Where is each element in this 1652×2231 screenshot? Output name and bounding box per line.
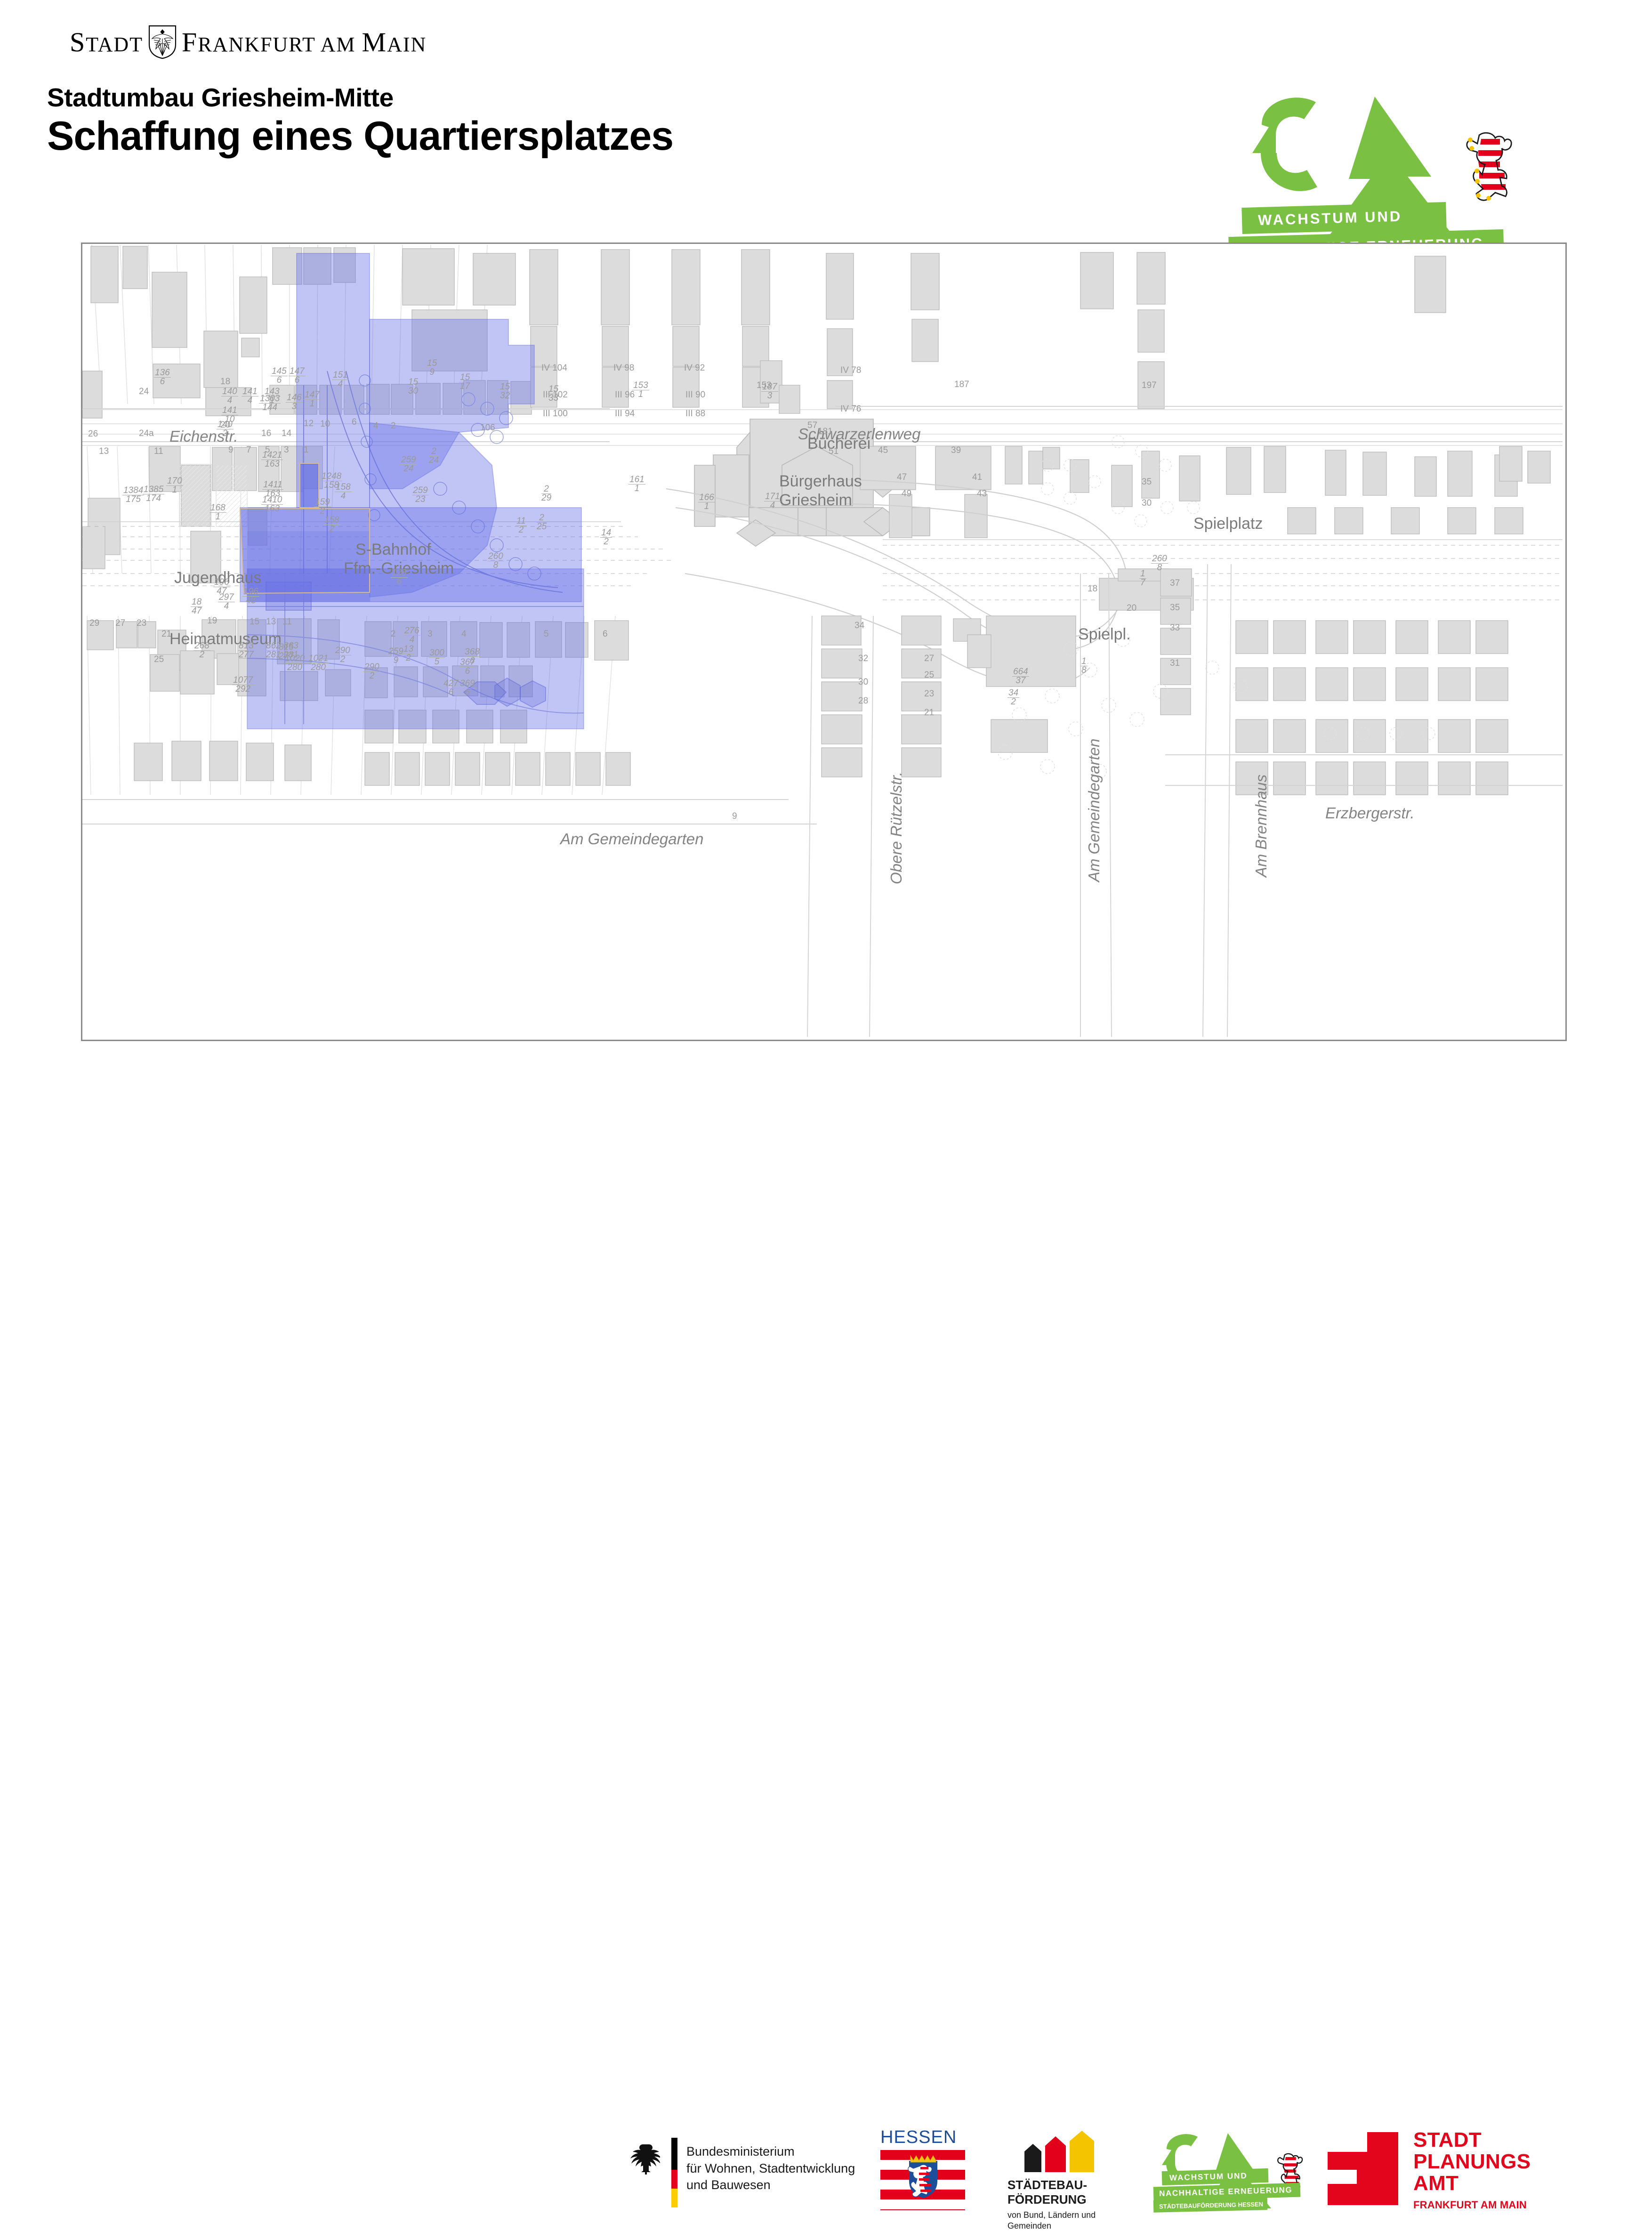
- parcel-number-label: 225: [537, 514, 547, 531]
- parcel-number-label: 1847: [191, 598, 202, 615]
- parcel-number-label: 1410163: [261, 496, 283, 513]
- parcel-number-label: 2608: [487, 552, 504, 570]
- house-number-label: 43: [977, 489, 987, 499]
- house-number-label: 4: [373, 421, 379, 431]
- street-label: Am Brennhaus: [1252, 775, 1270, 877]
- house-number-label: 6: [352, 417, 357, 428]
- parcel-number-label: 1873: [761, 383, 778, 400]
- frankfurt-eagle-crest-icon: [148, 24, 177, 59]
- house-number-label: 34: [854, 621, 864, 631]
- parcel-number-label: 229: [541, 485, 551, 502]
- parcel-number-label: 1611: [629, 476, 645, 493]
- parcel-number-label: 4276: [443, 679, 459, 697]
- house-number-label: 32: [858, 654, 868, 664]
- house-number-label: 13: [266, 617, 276, 627]
- house-number-label: 35: [1170, 603, 1180, 613]
- parcel-number-label: 1714: [764, 493, 781, 510]
- parcel-number-label: 3696: [459, 679, 476, 697]
- house-number-label: 19: [207, 616, 217, 626]
- stadtplanungsamt-mark-icon: [1328, 2132, 1398, 2205]
- parcel-number-label: 1471: [304, 391, 321, 408]
- germany-flag-bar-icon: [671, 2138, 677, 2207]
- parcel-number-label: 1476: [289, 367, 306, 385]
- cadastral-map[interactable]: Eichenstr.SchwarzerlenwegErzbergerstr.Am…: [81, 242, 1567, 1041]
- house-number-label: 31: [1170, 658, 1180, 669]
- parcel-number-label: 1514: [332, 371, 349, 388]
- house-number-label: 35: [1142, 477, 1152, 487]
- parcel-number-label: 1456: [271, 367, 288, 385]
- hessen-logo: HESSEN: [880, 2127, 965, 2210]
- parcel-number-label: 1530: [407, 378, 419, 396]
- spa-line-1: STADT: [1413, 2129, 1531, 2151]
- parcel-number-label: 1533: [548, 385, 559, 403]
- page-title: Schaffung eines Quartiersplatzes: [47, 113, 673, 160]
- stbf-sub-1: von Bund, Ländern und: [1007, 2210, 1096, 2221]
- parcel-number-label: 1021280: [307, 655, 329, 672]
- parcel-number-label: 1286: [391, 569, 408, 586]
- parcel-number-label: 2764: [403, 627, 420, 644]
- wachstum-erneuerung-logo-small: WACHSTUM UND NACHHALTIGE ERNEUERUNG STÄD…: [1153, 2129, 1332, 2214]
- poi-label: Spielpl.: [1078, 625, 1131, 644]
- house-number-label: 5: [544, 629, 549, 639]
- parcel-number-label: 142: [600, 529, 612, 546]
- street-label: Am Gemeindegarten: [1085, 739, 1103, 882]
- parcel-number-label: 25923: [412, 486, 429, 504]
- house-number-label: 197: [1142, 380, 1157, 391]
- house-number-label: 30: [1142, 498, 1152, 509]
- parcel-number-label: 1303144: [259, 395, 281, 412]
- house-number-label: 30: [858, 677, 868, 687]
- house-number-label: 13: [99, 446, 109, 457]
- hessen-coat-of-arms-icon: [908, 2154, 939, 2199]
- quartiersplatz-highlight: [82, 244, 1563, 1037]
- parcel-number-label: 1592: [314, 498, 331, 516]
- parcel-number-label: 813277: [238, 642, 255, 659]
- house-number-label: 181: [818, 427, 833, 437]
- parcel-number-label: 1681: [210, 504, 226, 521]
- parcel-number-label: 2608: [1151, 555, 1168, 572]
- house-number-label: 20: [1127, 603, 1136, 614]
- house-number-label: 1: [304, 445, 309, 455]
- house-number-label: 25: [154, 655, 164, 665]
- parcel-number-label: 66437: [1012, 668, 1029, 685]
- house-number-label: III 88: [685, 409, 705, 419]
- three-houses-icon: [1023, 2131, 1098, 2172]
- house-number-label: 3: [427, 629, 433, 639]
- parcel-number-label: 1584: [335, 483, 352, 501]
- house-number-label: IV 92: [684, 363, 705, 373]
- parcel-number-label: 3005: [428, 649, 445, 666]
- parcel-number-label: 1463: [286, 394, 303, 411]
- wachstum-small-band-3: STÄDTEBAUFÖRDERUNG HESSEN: [1153, 2198, 1268, 2212]
- parcel-number-label: 17: [1139, 570, 1146, 587]
- house-number-label: 187: [954, 380, 969, 390]
- poi-label: Bürgerhaus: [779, 472, 862, 491]
- house-number-label: 41: [972, 472, 982, 483]
- parcel-number-label: 1404: [221, 388, 238, 405]
- parcel-number-label: 2902: [334, 647, 351, 664]
- city-logo-text-right: FRANKFURT AM MAIN: [182, 26, 427, 58]
- poi-label: Spielplatz: [1193, 515, 1263, 533]
- house-number-label: 7: [246, 445, 251, 455]
- bundesadler-icon: [626, 2142, 660, 2179]
- parcel-number-label: 1385174: [143, 485, 164, 503]
- parcel-number-label: 863281: [282, 642, 299, 659]
- house-number-label: 33: [1170, 623, 1180, 633]
- bmwsb-line-3: und Bauwesen: [686, 2177, 855, 2194]
- house-number-label: 21: [924, 708, 934, 718]
- parcel-number-label: 2682: [193, 642, 210, 659]
- parcel-number-label: 1531: [632, 381, 649, 399]
- stbf-line-2: FÖRDERUNG: [1007, 2192, 1087, 2207]
- house-number-label: 18: [220, 377, 230, 387]
- parcel-number-label: 19648: [242, 588, 259, 605]
- parcel-number-label: 2974: [218, 593, 235, 611]
- house-number-label: 24: [139, 387, 149, 397]
- house-number-label: III 96: [615, 390, 635, 400]
- house-number-label: 21: [161, 629, 171, 639]
- house-number-label: 2: [391, 421, 396, 431]
- parcel-number-label: 1384175: [122, 486, 144, 504]
- house-number-label: 57: [807, 420, 817, 431]
- house-number-label: 27: [115, 618, 125, 629]
- parcel-number-label: 2599: [387, 647, 404, 665]
- house-number-label: 10: [320, 419, 330, 429]
- parcel-number-label: 1532: [499, 383, 511, 400]
- house-number-label: 3: [284, 445, 289, 455]
- parcel-number-label: 1517: [459, 373, 471, 391]
- house-number-label: 29: [89, 618, 99, 629]
- parcel-number-label: 224: [429, 447, 439, 465]
- house-number-label: IV 78: [840, 365, 861, 376]
- parcel-number-label: 1582: [323, 516, 340, 533]
- parcel-number-label: 1077292: [232, 676, 254, 694]
- recycle-arrow-icon: [1252, 97, 1317, 193]
- street-label: Erzbergerstr.: [1325, 804, 1415, 822]
- street-label: Am Gemeindegarten: [560, 830, 704, 848]
- spa-line-3: AMT: [1413, 2173, 1531, 2194]
- house-number-label: 47: [897, 472, 907, 483]
- house-number-label: 11: [282, 617, 292, 627]
- parcel-number-label: 1402: [217, 420, 234, 438]
- parcel-number-label: 1414: [242, 388, 258, 405]
- house-number-label: 24a: [139, 428, 154, 439]
- city-logo: STADT FRANKFURT AM MAIN: [70, 24, 427, 59]
- parcel-number-label: 1366: [154, 369, 171, 386]
- hessen-lion-icon: [1467, 133, 1511, 201]
- parcel-number-label: 112: [516, 517, 527, 534]
- house-number-label: III 90: [685, 390, 705, 400]
- poi-label: S-Bahnhof: [355, 541, 431, 559]
- parcel-number-label: 25924: [400, 456, 417, 473]
- parcel-number-label: 18: [1080, 657, 1088, 675]
- stbf-line-1: STÄDTEBAU-: [1007, 2178, 1087, 2192]
- house-number-label: 11: [154, 446, 163, 457]
- bmwsb-line-1: Bundesministerium: [686, 2143, 855, 2160]
- street-label: Obere Rützelstr.: [887, 772, 905, 884]
- poi-label: Griesheim: [779, 491, 852, 509]
- house-number-label: 6: [603, 629, 608, 639]
- map-canvas[interactable]: Eichenstr.SchwarzerlenwegErzbergerstr.Am…: [82, 244, 1563, 1037]
- house-number-label: 28: [858, 696, 868, 706]
- house-number-label: 4: [461, 629, 467, 639]
- parcel-number-label: 1421163: [261, 451, 283, 469]
- house-number-label: 26: [88, 429, 98, 439]
- house-number-label: III 100: [543, 409, 568, 419]
- spa-line-2: PLANUNGS: [1413, 2151, 1531, 2173]
- parcel-number-label: 3686: [464, 648, 481, 665]
- parcel-number-label: 2902: [363, 663, 380, 680]
- house-number-label: 49: [902, 489, 911, 499]
- house-number-label: 9: [228, 445, 234, 455]
- house-number-label: IV 98: [613, 363, 634, 373]
- house-number-label: 45: [878, 445, 888, 456]
- house-number-label: III 94: [615, 409, 635, 419]
- house-number-label: 12: [304, 419, 314, 429]
- project-subtitle: Stadtumbau Griesheim-Mitte: [47, 82, 394, 113]
- house-number-label: 37: [1170, 578, 1180, 589]
- poi-label: Bücherei: [807, 435, 870, 453]
- house-number-label: 106: [480, 423, 495, 433]
- house-number-label: 9: [732, 811, 737, 822]
- page-header: STADT FRANKFURT AM MAIN Stadtumbau Gries…: [0, 0, 1652, 221]
- house-number-label: 23: [137, 618, 146, 629]
- parcel-number-label: 1661: [698, 493, 715, 511]
- house-number-label: 18: [1088, 584, 1097, 594]
- house-number-label: 25: [924, 670, 934, 680]
- footer-logo-strip: Bundesministerium für Wohnen, Stadtentwi…: [0, 1059, 1652, 1168]
- house-number-label: IV 104: [541, 363, 567, 373]
- bmwsb-line-2: für Wohnen, Stadtentwicklung: [686, 2160, 855, 2177]
- hessen-label: HESSEN: [880, 2127, 965, 2148]
- city-logo-text-left: STADT: [70, 26, 143, 58]
- parcel-number-label: 132: [403, 645, 414, 663]
- spa-subline: FRANKFURT AM MAIN: [1413, 2199, 1527, 2211]
- house-number-label: 27: [924, 654, 934, 664]
- house-number-label: 39: [951, 445, 961, 456]
- parcel-number-label: 159: [426, 359, 438, 377]
- house-number-label: IV 76: [840, 404, 861, 414]
- wachstum-small-band-1: WACHSTUM UND: [1162, 2168, 1269, 2185]
- house-number-label: 2: [391, 629, 396, 639]
- house-number-label: 23: [924, 689, 934, 699]
- parcel-number-label: 342: [1007, 689, 1019, 706]
- house-number-label: 14: [282, 428, 291, 439]
- stbf-sub-2: Gemeinden: [1007, 2221, 1096, 2231]
- parcel-number-label: 1701: [166, 477, 183, 494]
- house-number-label: 16: [261, 428, 271, 439]
- house-number-label: 15: [250, 617, 259, 627]
- parcel-number-label: 862281: [265, 642, 282, 659]
- house-number-label: 51: [829, 446, 838, 457]
